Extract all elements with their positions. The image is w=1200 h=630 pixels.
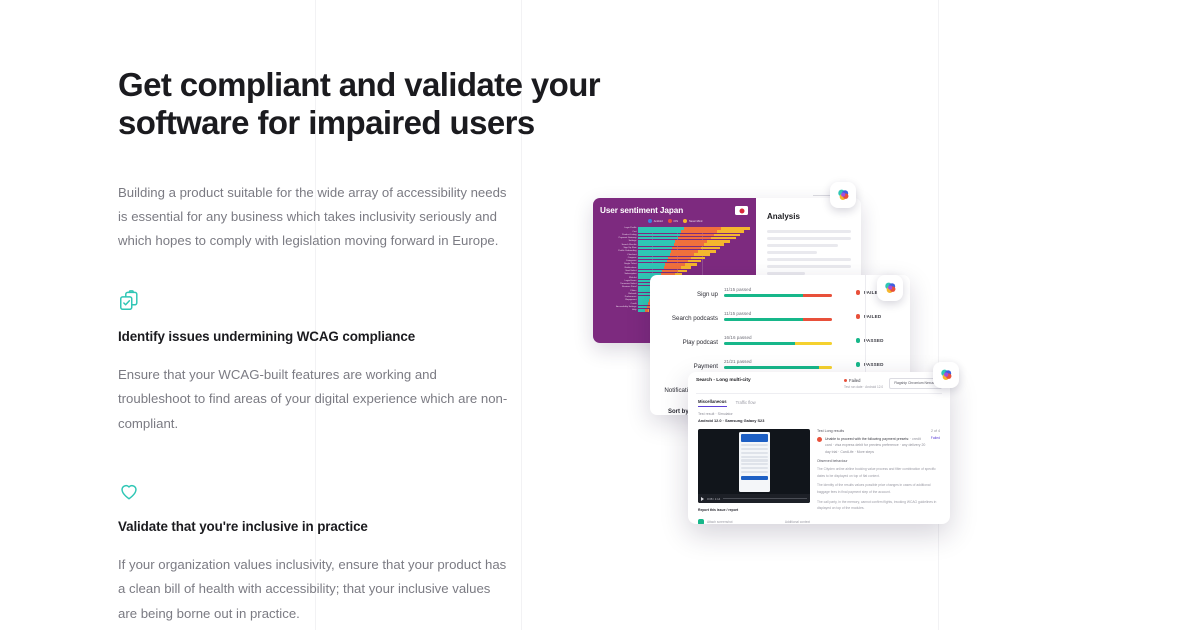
detail-right-header: Test Long results 2 of 4 [817, 429, 940, 433]
chart-bar-segment [681, 230, 717, 233]
heart-icon [118, 480, 140, 502]
chart-bar-label: Profile Onboarding [618, 250, 636, 252]
chart-bar-segment [674, 243, 704, 246]
chart-legend: AndroidiOSNever Mind [600, 219, 750, 223]
chart-bar-row: Cart [638, 230, 750, 233]
status-badge: PASSED [848, 358, 900, 367]
chart-bar-segment [638, 257, 668, 260]
chart-bar-segment [671, 250, 698, 253]
pass-count: 11/15 passed [724, 311, 848, 316]
badge-connector-line [813, 195, 831, 196]
chart-bar-segment [707, 240, 730, 243]
status-label: PASSED [864, 362, 884, 367]
chart-bar-segment [691, 257, 705, 260]
chart-bar-segment [638, 302, 648, 305]
status-dot-icon [856, 362, 860, 366]
sentiment-card-title: User sentiment Japan [600, 206, 683, 215]
chart-bar-segment [678, 270, 687, 273]
chart-bar-label: Single Ticket [624, 263, 636, 265]
issue-item: Unable to proceed with the following pay… [817, 436, 940, 454]
test-progress: 21/21 passed [724, 358, 848, 369]
chart-bar-segment [701, 247, 720, 250]
chart-bar-segment [717, 230, 744, 233]
observed-behaviour-label: Observed behaviour [817, 459, 940, 463]
skeleton-line [767, 230, 851, 233]
skeleton-line [767, 251, 817, 254]
feature-title: Validate that you're inclusive in practi… [118, 519, 518, 534]
player-scrubber[interactable] [723, 498, 807, 499]
chart-bar-segment [638, 309, 645, 312]
chart-bar-label: Accessibility Settings [616, 306, 636, 308]
issue-title: Unable to proceed with the following pay… [825, 437, 909, 441]
player-time: 0:08 / 1:14 [707, 497, 720, 501]
status-dot-icon [844, 379, 847, 382]
chart-bar-segment [680, 234, 714, 237]
detail-status-badge: Failed [844, 378, 883, 383]
chart-bar-segment [638, 234, 680, 237]
chart-bar-segment [638, 243, 674, 246]
legend-item: iOS [668, 219, 678, 223]
detail-meta-label: Test result · Simulator [698, 411, 940, 418]
pass-count: 21/21 passed [724, 359, 848, 364]
chart-bar-segment [638, 263, 665, 266]
chart-bar-label: Settings [629, 240, 637, 242]
test-name: Sign up [662, 286, 724, 299]
intro-paragraph: Building a product suitable for the wide… [118, 181, 508, 254]
chart-bar-segment [721, 227, 750, 230]
issue-paragraph: The call party, in the memory, cannot co… [817, 499, 940, 512]
feature-block-inclusive: Validate that you're inclusive in practi… [118, 480, 518, 626]
chart-bar-label: Refunds [628, 293, 636, 295]
issue-status-tag: Failed [931, 436, 940, 440]
progress-bar [724, 294, 832, 296]
chart-bar-segment [678, 237, 711, 240]
clipboard-check-icon [118, 290, 140, 312]
tab-traffic-flow[interactable]: Traffic flow [736, 399, 756, 407]
detail-caption: Report this issue / report [698, 507, 810, 513]
chart-bar-label: Product Listing [622, 234, 636, 236]
chart-bar-segment [664, 266, 681, 269]
chart-bar-row: Payment Gateway [638, 237, 750, 240]
session-recording-player[interactable]: 0:08 / 1:14 [698, 429, 810, 503]
chart-bar-label: Repayment [625, 299, 636, 301]
test-progress: 11/15 passed [724, 310, 848, 321]
analysis-title: Analysis [767, 212, 851, 221]
skeleton-line [767, 258, 851, 261]
feature-block-wcag: Identify issues undermining WCAG complia… [118, 290, 518, 436]
feature-title: Identify issues undermining WCAG complia… [118, 329, 518, 344]
chart-bar-segment [684, 227, 721, 230]
legend-item: Never Mind [683, 219, 702, 223]
colorful-logo-icon [939, 368, 954, 383]
detail-meta: Test result · Simulator Android 12.0 · S… [696, 411, 942, 426]
test-progress: 11/15 passed [724, 286, 848, 297]
chart-bar-segment [638, 260, 667, 263]
chart-bar-segment [670, 253, 694, 256]
chart-bar-segment [711, 237, 735, 240]
chart-bar-row: Login Profile [638, 227, 750, 230]
japan-flag-icon [735, 206, 748, 215]
chart-bar-segment [667, 260, 689, 263]
chart-bar-segment [638, 306, 647, 309]
chart-bar-segment [638, 227, 684, 230]
pass-count: 16/16 passed [724, 335, 848, 340]
progress-bar [724, 342, 832, 344]
detail-result-counter: 2 of 4 [931, 429, 940, 433]
issue-paragraph: The identity of the results values possi… [817, 482, 940, 495]
chart-bar-label: Payment Gateway [619, 237, 637, 239]
chart-bar-segment [675, 240, 707, 243]
chart-bar-segment [638, 253, 670, 256]
player-controls[interactable]: 0:08 / 1:14 [698, 494, 810, 503]
app-logo-badge [877, 275, 903, 301]
chart-bar-segment [638, 230, 681, 233]
chart-bar-label: Credit [631, 303, 637, 305]
detail-meta-value: Android 12.0 · Samsung Galaxy S23 [698, 418, 764, 423]
chart-bar-segment [638, 299, 649, 302]
chart-bar-label: Reviews Panel [622, 286, 636, 288]
chart-bar-row: Sign Up Flow [638, 247, 750, 250]
chart-bar-segment [704, 243, 724, 246]
status-dot-icon [856, 338, 860, 342]
chart-bar-row: Seat Select [638, 270, 750, 273]
sentiment-card-header: User sentiment Japan [600, 206, 750, 215]
chart-bar-label: Timezone Select [620, 283, 636, 285]
chart-bar-segment [638, 237, 678, 240]
progress-bar [724, 318, 832, 320]
chart-bar-segment [638, 240, 675, 243]
test-name: Search podcasts [662, 310, 724, 323]
chart-bar-row: Single Ticket [638, 263, 750, 266]
test-name: Play podcast [662, 334, 724, 347]
colorful-logo-icon [883, 281, 898, 296]
skeleton-line [767, 244, 838, 247]
page-title: Get compliant and validate your software… [118, 66, 738, 143]
chart-bar-segment [638, 296, 651, 299]
chart-bar-row: Checkout [638, 253, 750, 256]
issue-paragraph: The Cityden online airline booking value… [817, 466, 940, 479]
test-detail-card[interactable]: Search - Long multi-city Failed Test run… [688, 372, 950, 524]
chart-bar-label: Cart [632, 231, 636, 233]
chart-bar-segment [672, 247, 701, 250]
chart-bar-label: Login Profile [624, 227, 636, 229]
detail-footer: Attach screenshot Additional context [698, 519, 810, 524]
test-name: Payment [662, 358, 724, 371]
product-screenshot-stack: User sentiment Japan AndroidiOSNever Min… [585, 180, 985, 540]
status-badge: FAILED [848, 310, 900, 319]
chart-bar-label: Checkout [627, 254, 636, 256]
chart-bar-row: Categories [638, 260, 750, 263]
chart-bar-label: Notifications [625, 267, 637, 269]
error-dot-icon [817, 437, 822, 442]
chart-bar-segment [638, 266, 664, 269]
chart-bar-segment [681, 266, 691, 269]
chart-bar-segment [685, 263, 696, 266]
detail-card-title: Search - Long multi-city [696, 378, 751, 383]
phone-frame-preview [739, 432, 770, 492]
chart-bar-row: Coupons [638, 257, 750, 260]
chart-bar-segment [662, 270, 678, 273]
play-icon[interactable] [701, 497, 704, 501]
chart-bar-row: Settings [638, 240, 750, 243]
status-dot-icon [856, 314, 860, 318]
skeleton-line [767, 265, 851, 268]
app-logo-badge [933, 362, 959, 388]
detail-right-pane: Test Long results 2 of 4 Unable to proce… [817, 429, 940, 524]
chart-bar-segment [668, 257, 691, 260]
app-logo-badge [830, 182, 856, 208]
progress-bar [724, 366, 832, 368]
chart-bar-label: Seat Select [625, 270, 636, 272]
chart-bar-label: Coupons [628, 257, 637, 259]
tab-miscellaneous[interactable]: Miscellaneous [698, 399, 727, 407]
chart-bar-segment [638, 250, 671, 253]
accessibility-landing-section: Get compliant and validate your software… [0, 0, 1200, 630]
footer-context-link[interactable]: Additional context [785, 520, 810, 524]
chart-bar-row: Profile Onboarding [638, 250, 750, 253]
chart-bar-row: Product Listing [638, 234, 750, 237]
chart-bar-segment [698, 250, 715, 253]
chart-bar-segment [694, 253, 710, 256]
skeleton-line [767, 237, 851, 240]
chart-bar-label: Preferences [625, 296, 637, 298]
chart-bar-label: Search Results [622, 244, 637, 246]
detail-status-meta: Test run date · Android 12.0 [844, 385, 883, 389]
feature-body: Ensure that your WCAG-built features are… [118, 363, 510, 436]
chart-bar-row: Search Results [638, 243, 750, 246]
chart-bar-row: Notifications [638, 266, 750, 269]
footer-attach-label[interactable]: Attach screenshot [707, 520, 733, 524]
chart-bar-label: Categories [626, 260, 637, 262]
chart-bar-segment [714, 234, 740, 237]
colorful-logo-icon [836, 188, 851, 203]
chart-bar-segment [638, 247, 672, 250]
legend-item: Android [648, 219, 663, 223]
chart-bar-segment [688, 260, 701, 263]
detail-tabs: Miscellaneous Traffic flow [696, 394, 942, 411]
chart-bar-label: Wishlist [629, 277, 637, 279]
avatar [698, 519, 704, 524]
detail-left-pane: 0:08 / 1:14 Report this issue / report A… [698, 429, 810, 524]
test-progress: 16/16 passed [724, 334, 848, 345]
text-column: Get compliant and validate your software… [118, 66, 518, 626]
status-label: PASSED [864, 338, 884, 343]
pass-count: 11/15 passed [724, 287, 848, 292]
status-dot-icon [856, 290, 860, 294]
chart-bar-segment [665, 263, 685, 266]
status-label: FAILED [864, 314, 882, 319]
chart-bar-segment [638, 270, 662, 273]
feature-body: If your organization values inclusivity,… [118, 553, 510, 626]
chart-bar-label: Sign Up Flow [623, 247, 636, 249]
chart-bar-label: Filters [631, 290, 637, 292]
status-badge: PASSED [848, 334, 900, 343]
chart-bar-label: Login Errors [625, 280, 637, 282]
detail-card-header: Search - Long multi-city Failed Test run… [696, 378, 942, 394]
chart-bar-label: Subscription [624, 273, 636, 275]
detail-body: 0:08 / 1:14 Report this issue / report A… [696, 425, 942, 524]
chart-bar-label: Help [632, 309, 637, 311]
